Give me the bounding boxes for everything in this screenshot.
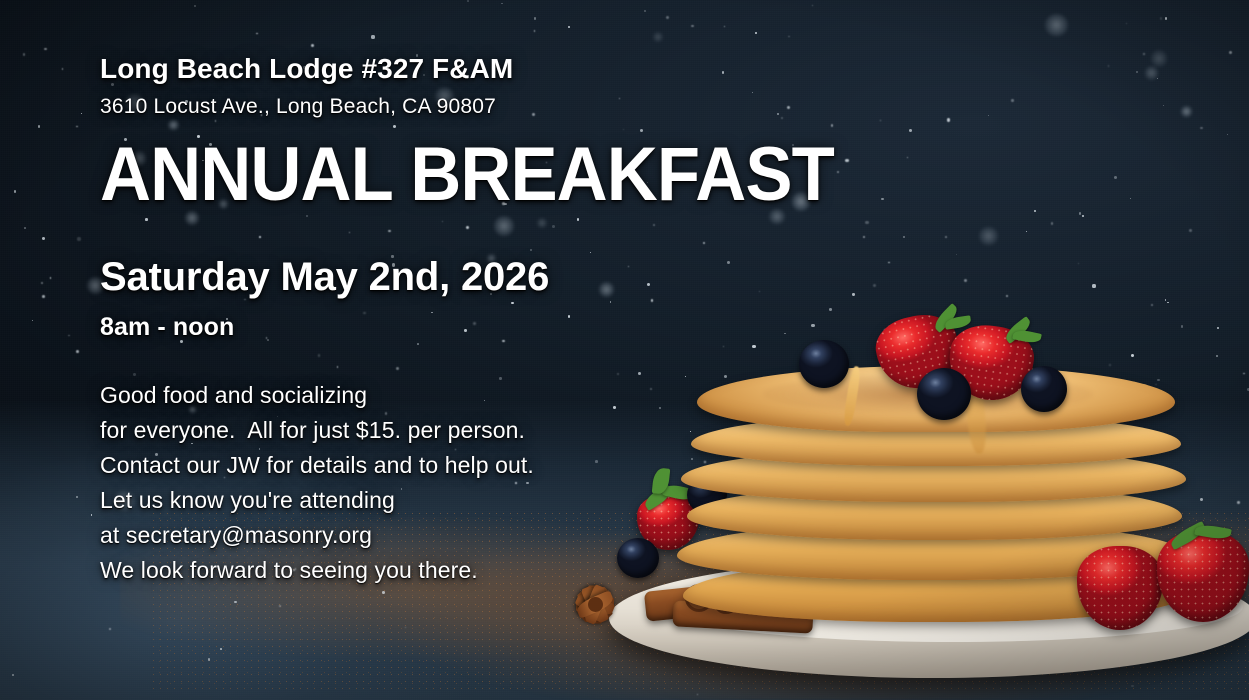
detail-line: We look forward to seeing you there. xyxy=(100,553,534,588)
event-time: 8am - noon xyxy=(100,313,234,342)
event-date: Saturday May 2nd, 2026 xyxy=(100,255,549,300)
detail-line: for everyone. All for just $15. per pers… xyxy=(100,413,534,448)
lodge-address: 3610 Locust Ave., Long Beach, CA 90807 xyxy=(100,95,496,119)
breakfast-event-poster: Long Beach Lodge #327 F&AM 3610 Locust A… xyxy=(0,0,1249,700)
detail-line-email: at secretary@masonry.org xyxy=(100,518,534,553)
event-title: ANNUAL BREAKFAST xyxy=(100,137,834,213)
detail-line: Contact our JW for details and to help o… xyxy=(100,448,534,483)
detail-line: Good food and socializing xyxy=(100,378,534,413)
lodge-name: Long Beach Lodge #327 F&AM xyxy=(100,53,513,85)
detail-line: Let us know you're attending xyxy=(100,483,534,518)
event-details: Good food and socializing for everyone. … xyxy=(100,378,534,588)
